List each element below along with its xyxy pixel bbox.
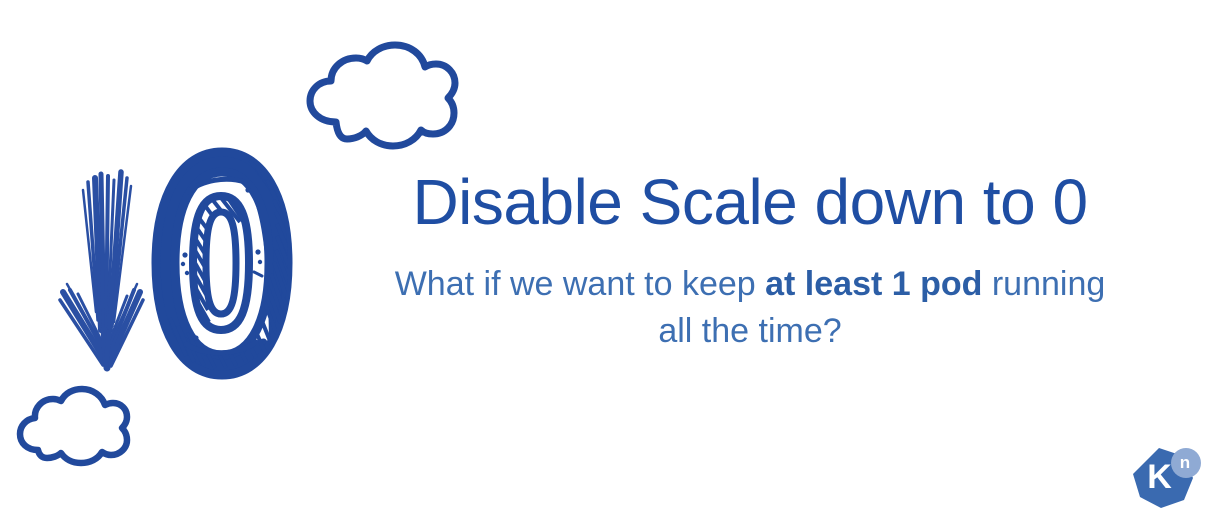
text-block: Disable Scale down to 0 What if we want …: [370, 168, 1130, 355]
logo-badge-letter: n: [1170, 448, 1200, 478]
subtitle-line-2: all the time?: [370, 308, 1130, 355]
slide-canvas: Disable Scale down to 0 What if we want …: [0, 0, 1212, 525]
hand-drawn-zero-icon: [156, 152, 306, 375]
down-arrow-sketch-icon: [60, 172, 143, 368]
page-title: Disable Scale down to 0: [370, 168, 1130, 237]
subtitle-suffix: running: [982, 265, 1105, 303]
subtitle-emphasis: at least 1 pod: [765, 265, 982, 303]
subtitle-prefix: What if we want to keep: [395, 265, 765, 303]
brand-logo: K n: [1128, 446, 1206, 520]
cloud-bottom-icon: [20, 389, 127, 463]
subtitle-line-1: What if we want to keep at least 1 pod r…: [370, 261, 1130, 308]
cloud-top-icon: [310, 45, 455, 146]
page-subtitle: What if we want to keep at least 1 pod r…: [370, 261, 1130, 355]
